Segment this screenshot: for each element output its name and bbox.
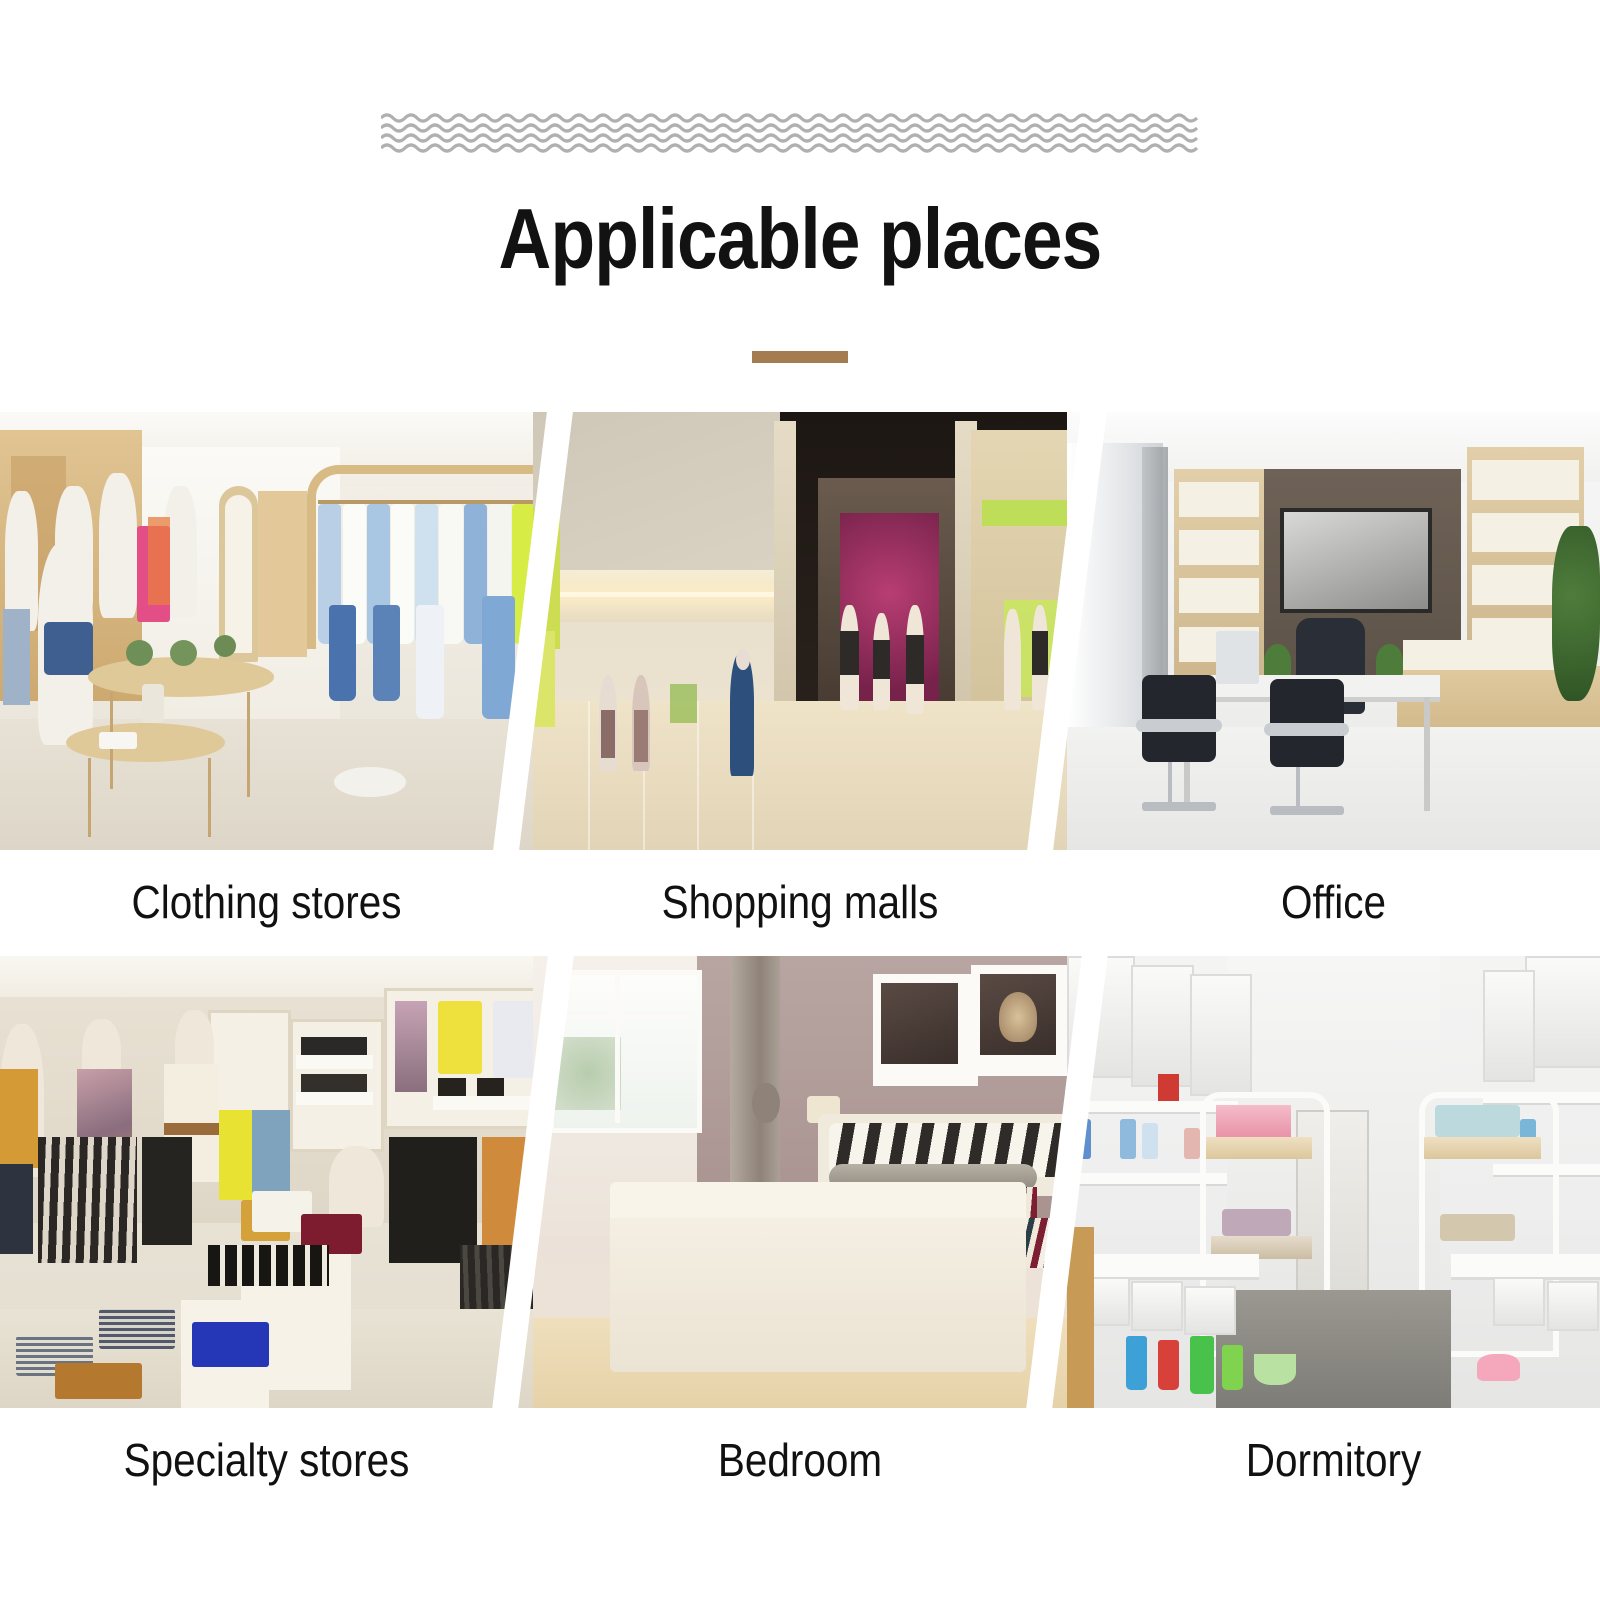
gallery-row-2 [0, 956, 1600, 1408]
gallery-label-office: Office [1099, 850, 1568, 954]
applicable-places-banner: Applicable places [0, 0, 1600, 1600]
clothing-store-photo [0, 412, 548, 850]
gallery-item-bedroom[interactable] [533, 956, 1081, 1408]
gallery-row-1 [0, 412, 1600, 850]
gallery-label-specialty-stores: Specialty stores [32, 1408, 501, 1512]
specialty-store-photo [0, 956, 548, 1408]
gallery-label-clothing-stores: Clothing stores [32, 850, 501, 954]
dormitory-photo [1067, 956, 1600, 1408]
gallery-label-dormitory: Dormitory [1099, 1408, 1568, 1512]
gallery-item-specialty-stores[interactable] [0, 956, 548, 1408]
gallery-row-1-labels: Clothing stores Shopping malls Office [0, 850, 1600, 954]
gallery-item-shopping-malls[interactable] [533, 412, 1081, 850]
bedroom-photo [533, 956, 1081, 1408]
gallery-label-shopping-malls: Shopping malls [565, 850, 1035, 954]
gallery-row-2-labels: Specialty stores Bedroom Dormitory [0, 1408, 1600, 1512]
office-photo [1067, 412, 1600, 850]
shopping-mall-photo [533, 412, 1081, 850]
title-accent-bar [752, 351, 848, 363]
gallery-item-dormitory[interactable] [1067, 956, 1600, 1408]
wavy-line-divider-icon [381, 112, 1199, 156]
page-title: Applicable places [112, 190, 1488, 290]
gallery-label-bedroom: Bedroom [565, 1408, 1035, 1512]
gallery-item-office[interactable] [1067, 412, 1600, 850]
gallery-item-clothing-stores[interactable] [0, 412, 548, 850]
